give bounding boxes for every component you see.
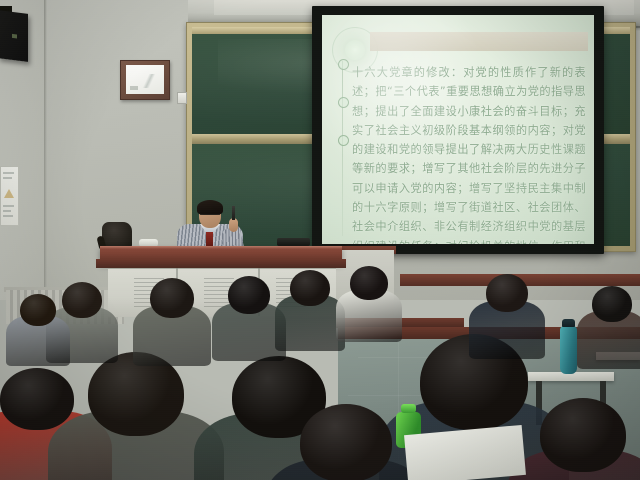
lecturer-hand [229,218,238,232]
framed-notice [120,60,170,100]
audience [0,256,640,480]
student-head [486,274,528,312]
slide-banner-bar [370,32,588,51]
student-head [300,404,392,480]
slide-bullet-dot [338,97,349,108]
student-head [540,398,626,472]
projection-screen: 十六大党章的修改：对党的性质作了新的表述；把“三个代表”重要思想确立为党的指导思… [312,6,604,254]
projection-surface: 十六大党章的修改：对党的性质作了新的表述；把“三个代表”重要思想确立为党的指导思… [322,15,594,244]
slide-bullet-dot [338,59,349,70]
student-head [20,294,56,326]
lecture-hall-photo: 十六大党章的修改：对党的性质作了新的表述；把“三个代表”重要思想确立为党的指导思… [0,0,640,480]
wall-poster [0,166,19,226]
slide-text: 十六大党章的修改：对党的性质作了新的表述；把“三个代表”重要思想确立为党的指导思… [352,63,586,244]
slide-spine-line [342,61,343,236]
framed-notice-mat [126,65,164,94]
student-head [228,276,270,314]
podium-equipment [277,238,310,246]
student-head [592,286,632,322]
student-head [290,270,330,306]
speaker-led-icon [12,34,17,39]
microphone-icon [232,206,235,220]
student-head [62,282,102,318]
black-bag [102,222,132,248]
wall-corner [44,0,47,300]
warning-triangle-icon [4,189,14,198]
eyeglasses-icon [200,214,220,219]
wall-speaker [0,10,28,62]
student-head [150,278,194,318]
notebook [404,425,526,480]
framed-notice-mark [136,74,162,88]
lecturer-hair [197,200,223,215]
light-switch[interactable] [177,92,187,104]
bottle-cap [401,404,416,413]
podium-top-highlight [100,246,342,249]
student-head [350,266,388,300]
student-head [0,368,74,430]
slide-bullet-dot [338,135,349,146]
